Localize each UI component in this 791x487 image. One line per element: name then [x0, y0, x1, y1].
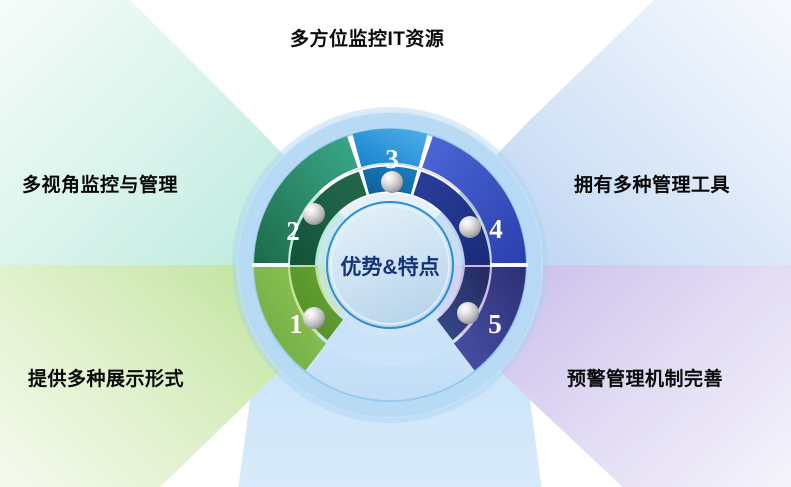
marker-5[interactable]: [457, 302, 479, 324]
segment-number-3: 3: [385, 144, 399, 174]
infographic-canvas: 1 2 3 4 5 优势&特点 多方位监控IT资源 多视角监控与管理 提供多种展…: [0, 0, 791, 487]
outer-label-upper-left: 多视角监控与管理: [22, 170, 178, 197]
outer-label-upper-right: 拥有多种管理工具: [574, 170, 730, 197]
outer-label-lower-left: 提供多种展示形式: [28, 364, 184, 391]
segmented-wheel: 1 2 3 4 5 优势&特点: [0, 0, 791, 487]
marker-4[interactable]: [459, 216, 481, 238]
marker-3[interactable]: [381, 171, 403, 193]
segment-number-2: 2: [286, 216, 300, 246]
outer-label-top: 多方位监控IT资源: [290, 24, 444, 51]
segment-number-4: 4: [489, 214, 503, 244]
marker-1[interactable]: [303, 307, 325, 329]
marker-2[interactable]: [303, 203, 325, 225]
segment-number-5: 5: [488, 309, 502, 339]
hub-label: 优势&特点: [340, 255, 439, 279]
segment-number-1: 1: [289, 309, 303, 339]
outer-label-lower-right: 预警管理机制完善: [567, 364, 723, 391]
